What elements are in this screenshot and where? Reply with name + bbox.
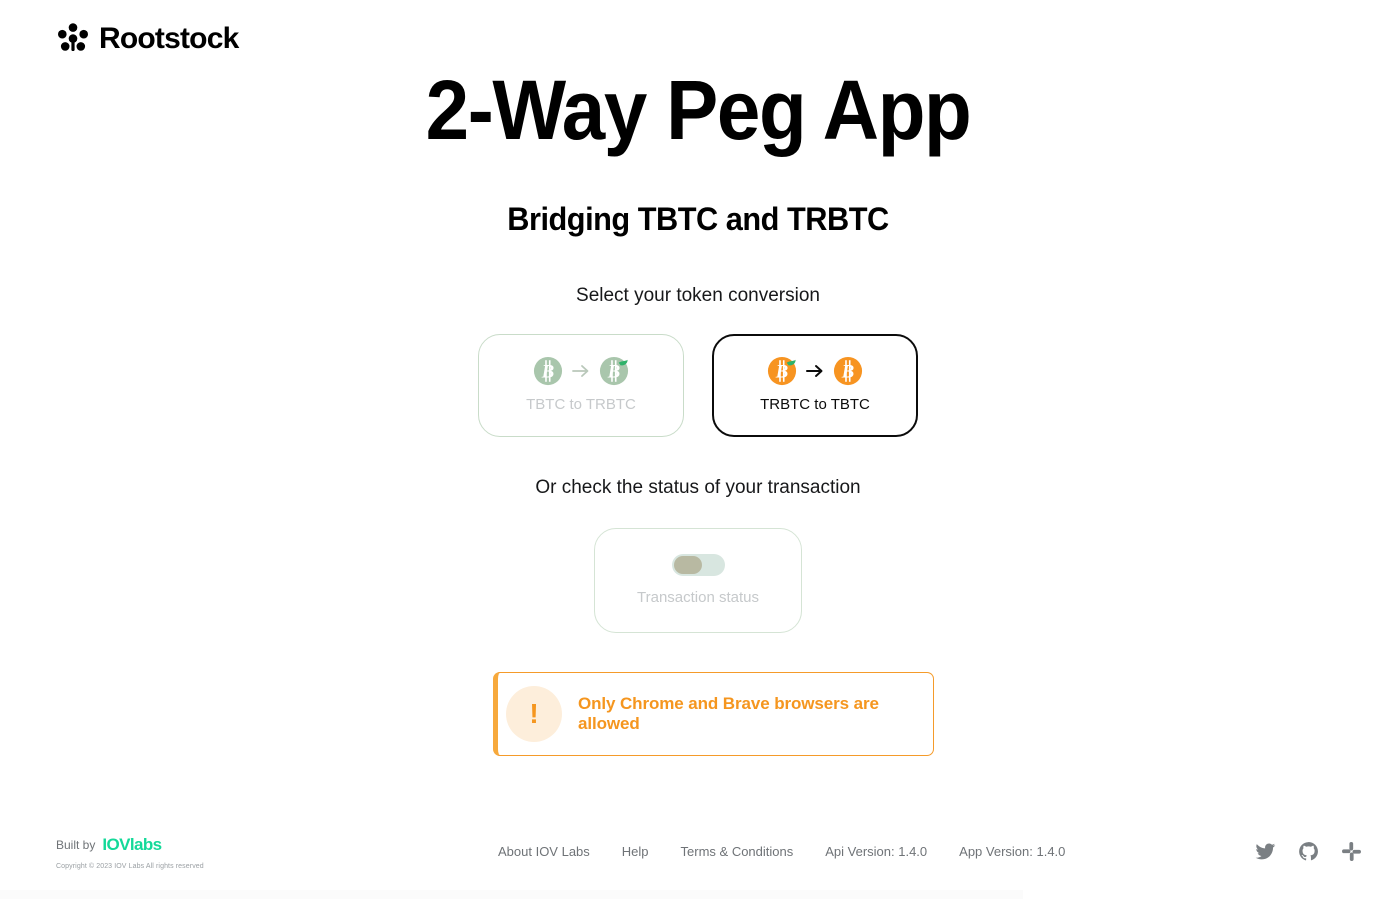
conversion-option-label: TBTC to TRBTC (526, 395, 636, 415)
footer-links: About IOV Labs Help Terms & Conditions A… (498, 844, 1065, 859)
toggle-switch-icon (672, 554, 725, 576)
footer-link-about-iov-labs[interactable]: About IOV Labs (498, 844, 590, 859)
twitter-icon[interactable] (1255, 841, 1276, 862)
app-page: Rootstock 2-Way Peg App Bridging TBTC an… (0, 0, 1396, 899)
built-by-label: Built by (56, 838, 95, 852)
rootstock-bitcoin-coin-icon: B (767, 356, 797, 386)
slack-icon[interactable] (1341, 841, 1362, 862)
exclamation-mark-glyph: ! (529, 700, 538, 728)
transaction-status-card[interactable]: Transaction status (594, 528, 802, 633)
exclamation-mark-icon: ! (506, 686, 562, 742)
footer-left: Built by IOVlabs Copyright © 2023 IOV La… (56, 835, 204, 870)
horizontal-scrollbar[interactable] (0, 890, 1023, 899)
status-card-wrap: Transaction status (0, 528, 1396, 633)
status-section-label: Or check the status of your transaction (0, 475, 1396, 501)
iovlabs-logo-prefix: IOV (102, 835, 130, 855)
conversion-option-icons: B B (533, 356, 629, 386)
brand-name: Rootstock (99, 22, 238, 56)
conversion-option-trbtc-to-tbtc[interactable]: B B (712, 334, 918, 437)
footer-link-help[interactable]: Help (622, 844, 649, 859)
conversion-options: B B (0, 334, 1396, 437)
page-footer: Built by IOVlabs Copyright © 2023 IOV La… (0, 823, 1396, 899)
transaction-status-label: Transaction status (637, 588, 759, 608)
conversion-section-label: Select your token conversion (0, 283, 1396, 309)
svg-text:B: B (607, 362, 621, 383)
github-icon[interactable] (1298, 841, 1319, 862)
copyright-text: Copyright © 2023 IOV Labs All rights res… (56, 863, 204, 870)
svg-text:B: B (841, 362, 855, 383)
footer-social-links (1255, 841, 1362, 862)
browser-warning-message: Only Chrome and Brave browsers are allow… (578, 694, 933, 734)
rootstock-flower-icon (56, 22, 90, 56)
arrow-right-icon (805, 361, 825, 381)
api-version-label: Api Version: 1.4.0 (825, 844, 927, 859)
arrow-right-icon (571, 361, 591, 381)
iovlabs-logo-suffix: labs (130, 835, 162, 855)
app-version-label: App Version: 1.4.0 (959, 844, 1065, 859)
built-by: Built by IOVlabs (56, 835, 204, 855)
conversion-option-label: TRBTC to TBTC (760, 395, 870, 415)
svg-text:B: B (775, 362, 789, 383)
footer-link-terms-and-conditions[interactable]: Terms & Conditions (681, 844, 794, 859)
conversion-option-tbtc-to-trbtc[interactable]: B B (478, 334, 684, 437)
conversion-option-icons: B B (767, 356, 863, 386)
browser-warning-banner: ! Only Chrome and Brave browsers are all… (493, 672, 934, 756)
toggle-switch-knob (674, 556, 702, 574)
bitcoin-coin-icon: B (533, 356, 563, 386)
iovlabs-logo[interactable]: IOVlabs (102, 835, 161, 855)
rootstock-bitcoin-coin-icon: B (599, 356, 629, 386)
brand-logo[interactable]: Rootstock (56, 22, 238, 56)
page-title: 2-Way Peg App (49, 62, 1347, 158)
svg-text:B: B (541, 362, 555, 383)
page-subtitle: Bridging TBTC and TRBTC (28, 198, 1368, 240)
bitcoin-coin-icon: B (833, 356, 863, 386)
